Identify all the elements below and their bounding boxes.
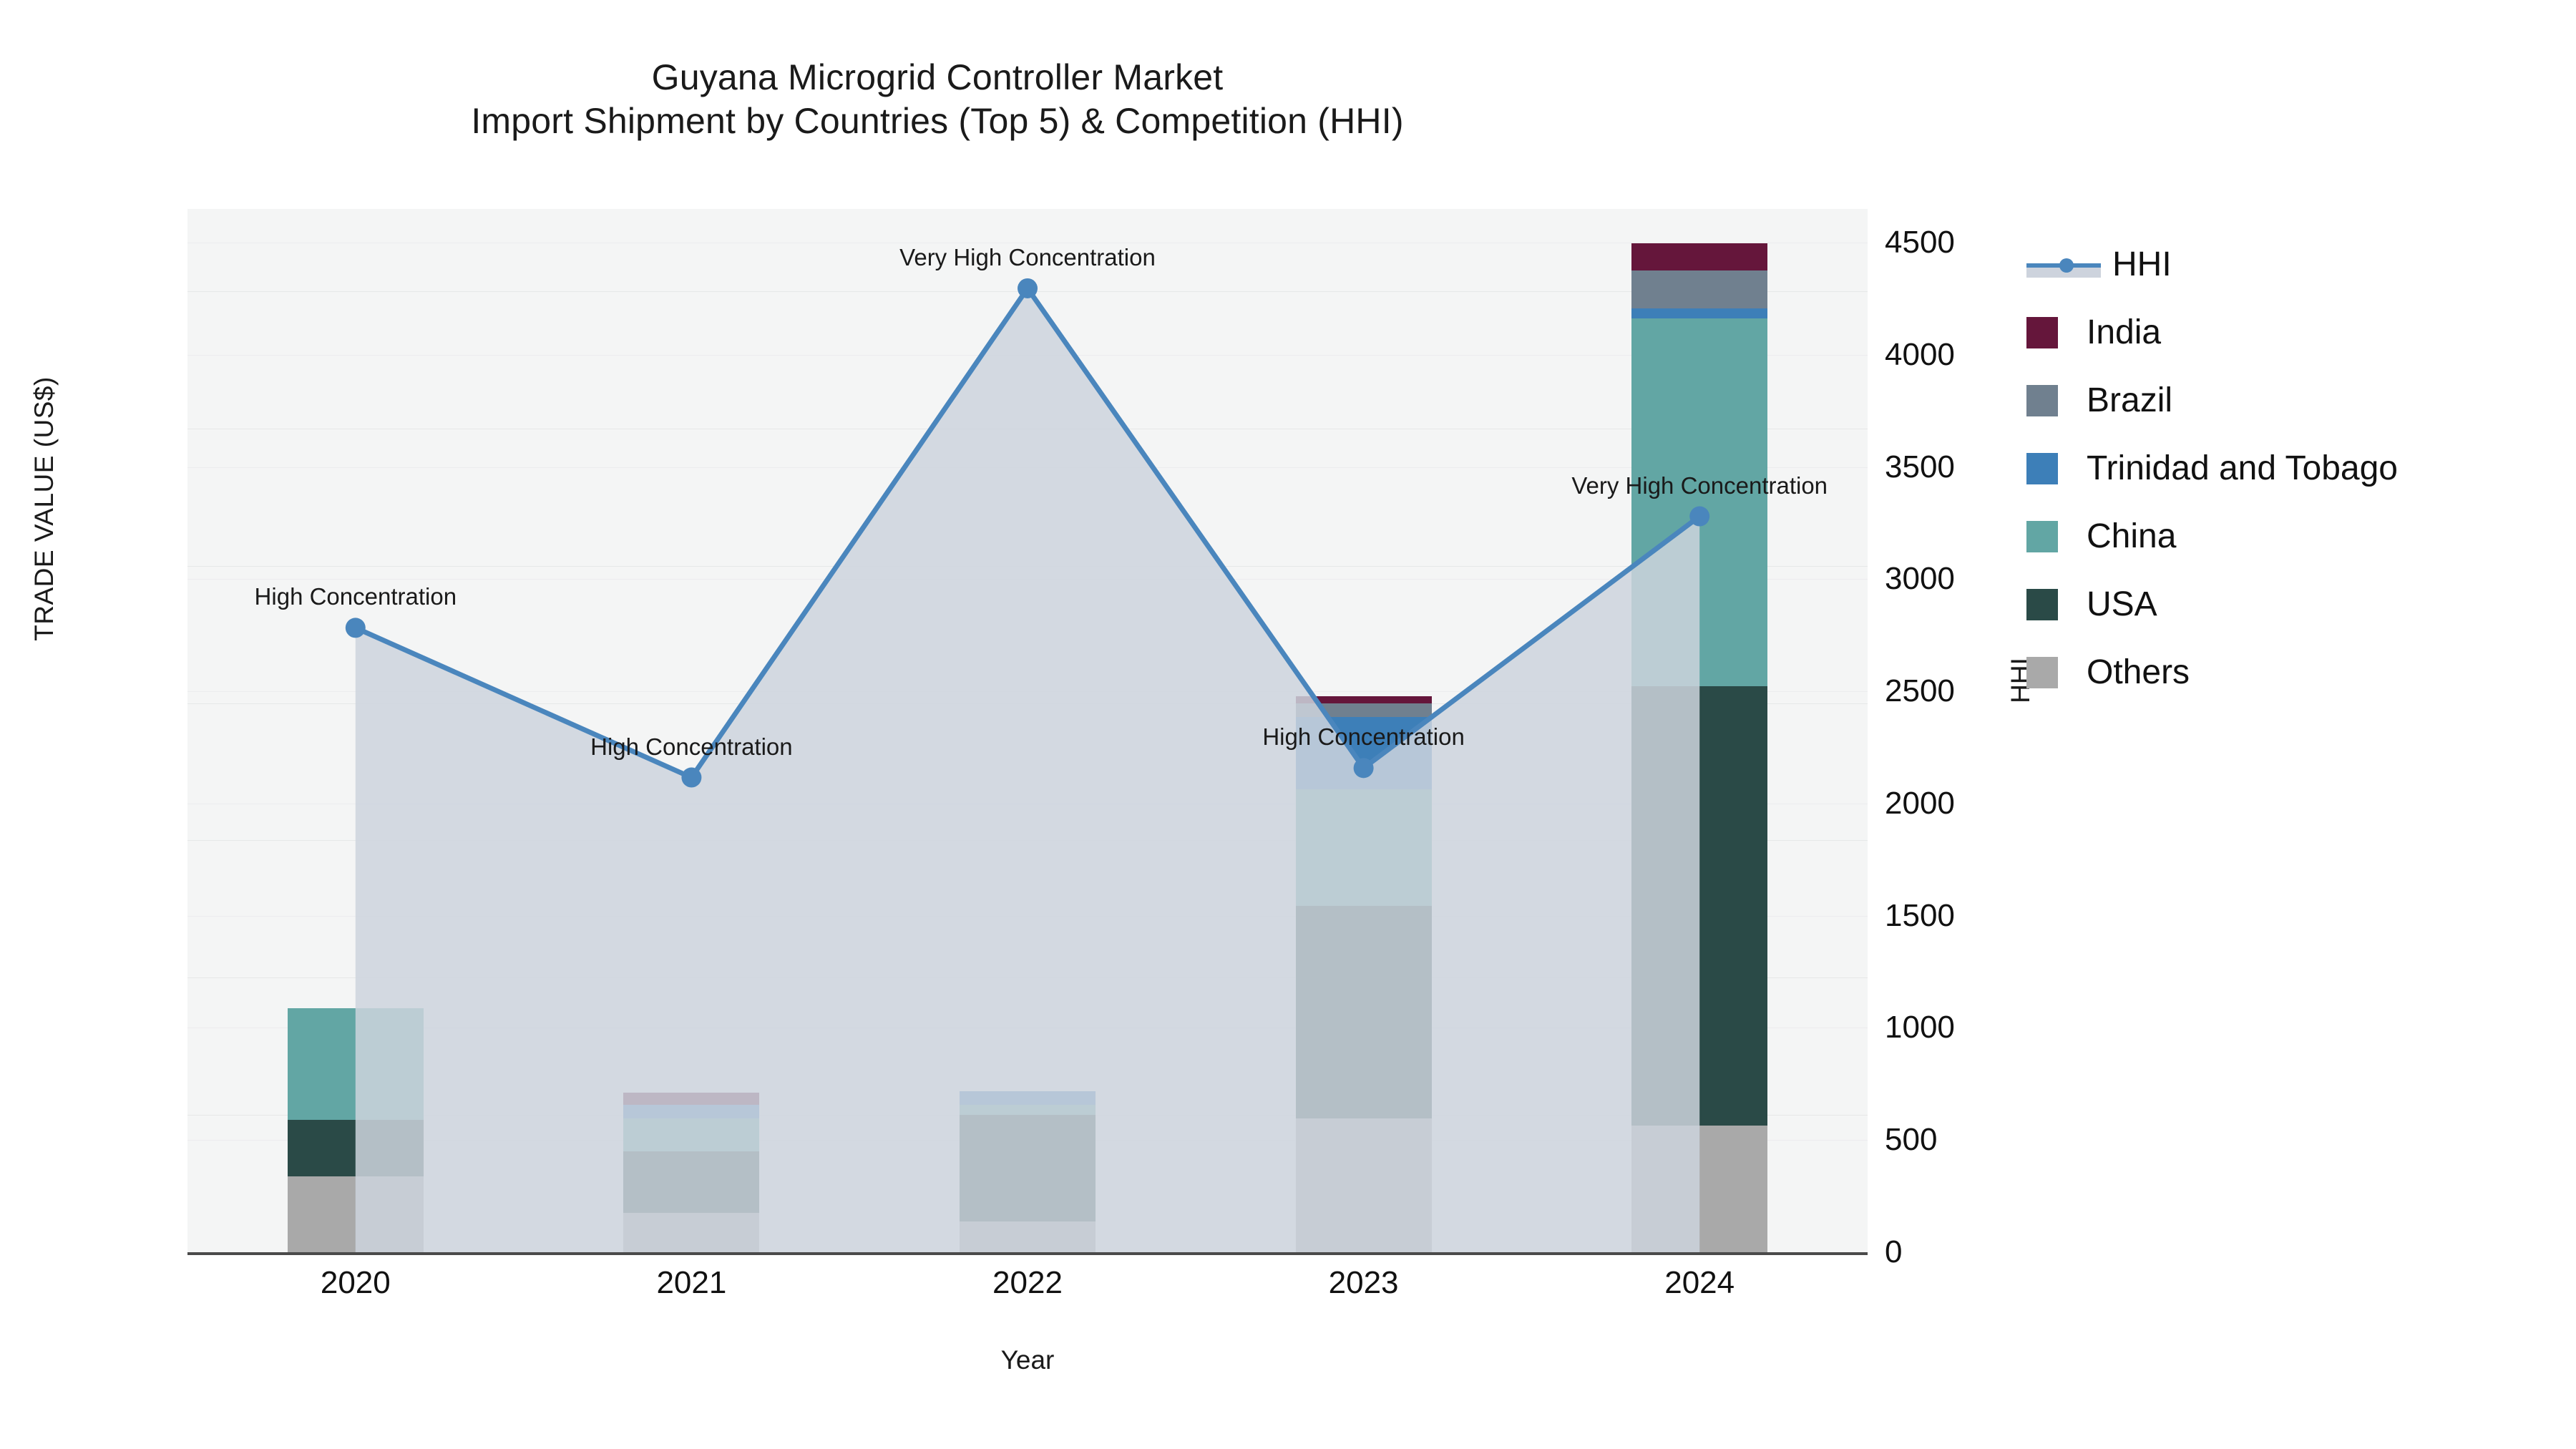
page-title: Guyana Microgrid Controller Market Impor… xyxy=(0,56,1875,143)
hhi-data-point[interactable] xyxy=(346,618,366,638)
x-axis-tick: 2021 xyxy=(584,1265,799,1301)
hhi-data-point[interactable] xyxy=(1018,278,1038,298)
legend-color-swatch-icon xyxy=(2026,521,2058,552)
legend-item[interactable]: Others xyxy=(2026,638,2570,706)
legend-line-marker-icon xyxy=(2026,249,2101,280)
legend-marker-dot-icon xyxy=(2059,258,2074,273)
hhi-data-point[interactable] xyxy=(681,768,701,788)
legend-item[interactable]: Trinidad and Tobago xyxy=(2026,434,2570,502)
title-line-1: Guyana Microgrid Controller Market xyxy=(652,57,1224,97)
legend-item[interactable]: USA xyxy=(2026,570,2570,638)
hhi-data-point[interactable] xyxy=(1689,507,1709,527)
plot-area xyxy=(187,209,1868,1252)
y-axis-right-tick: 500 xyxy=(1885,1122,2071,1158)
y-axis-right-tick: 1000 xyxy=(1885,1010,2071,1045)
hhi-data-point[interactable] xyxy=(1354,758,1374,778)
x-axis-tick: 2020 xyxy=(248,1265,463,1301)
x-axis-tick: 2024 xyxy=(1592,1265,1807,1301)
hhi-annotation: High Concentration xyxy=(590,733,793,761)
legend-item[interactable]: HHI xyxy=(2026,230,2570,298)
legend-color-swatch-icon xyxy=(2026,317,2058,348)
x-axis-tick: 2022 xyxy=(920,1265,1135,1301)
y-axis-right-tick: 1500 xyxy=(1885,898,2071,934)
hhi-annotation: High Concentration xyxy=(1262,723,1465,751)
legend-item[interactable]: China xyxy=(2026,502,2570,570)
hhi-line-chart xyxy=(187,209,1868,1252)
legend-item-label: Others xyxy=(2087,655,2190,690)
x-axis-tick: 2023 xyxy=(1257,1265,1471,1301)
x-axis-label: Year xyxy=(187,1345,1868,1375)
legend-color-swatch-icon xyxy=(2026,589,2058,620)
legend-item[interactable]: Brazil xyxy=(2026,366,2570,434)
legend-item-label: Trinidad and Tobago xyxy=(2087,452,2398,486)
y-axis-right-tick: 0 xyxy=(1885,1234,2071,1270)
hhi-area-fill xyxy=(356,288,1699,1252)
legend: HHIIndiaBrazilTrinidad and TobagoChinaUS… xyxy=(2026,230,2570,706)
y-axis-right-tick: 2000 xyxy=(1885,786,2071,821)
hhi-annotation: High Concentration xyxy=(255,583,457,610)
legend-color-swatch-icon xyxy=(2026,657,2058,688)
legend-item-label: India xyxy=(2087,316,2161,350)
title-line-2: Import Shipment by Countries (Top 5) & C… xyxy=(0,99,1875,143)
x-axis-line xyxy=(187,1252,1868,1255)
legend-item[interactable]: India xyxy=(2026,298,2570,366)
legend-item-label: HHI xyxy=(2112,248,2172,282)
legend-item-label: China xyxy=(2087,519,2176,554)
y-axis-left-label: TRADE VALUE (US$) xyxy=(29,187,59,831)
legend-color-swatch-icon xyxy=(2026,385,2058,416)
hhi-annotation: Very High Concentration xyxy=(899,244,1156,271)
legend-item-label: USA xyxy=(2087,587,2157,622)
legend-item-label: Brazil xyxy=(2087,384,2172,418)
hhi-annotation: Very High Concentration xyxy=(1571,472,1828,499)
legend-color-swatch-icon xyxy=(2026,453,2058,484)
plot-inner xyxy=(187,209,1868,1252)
